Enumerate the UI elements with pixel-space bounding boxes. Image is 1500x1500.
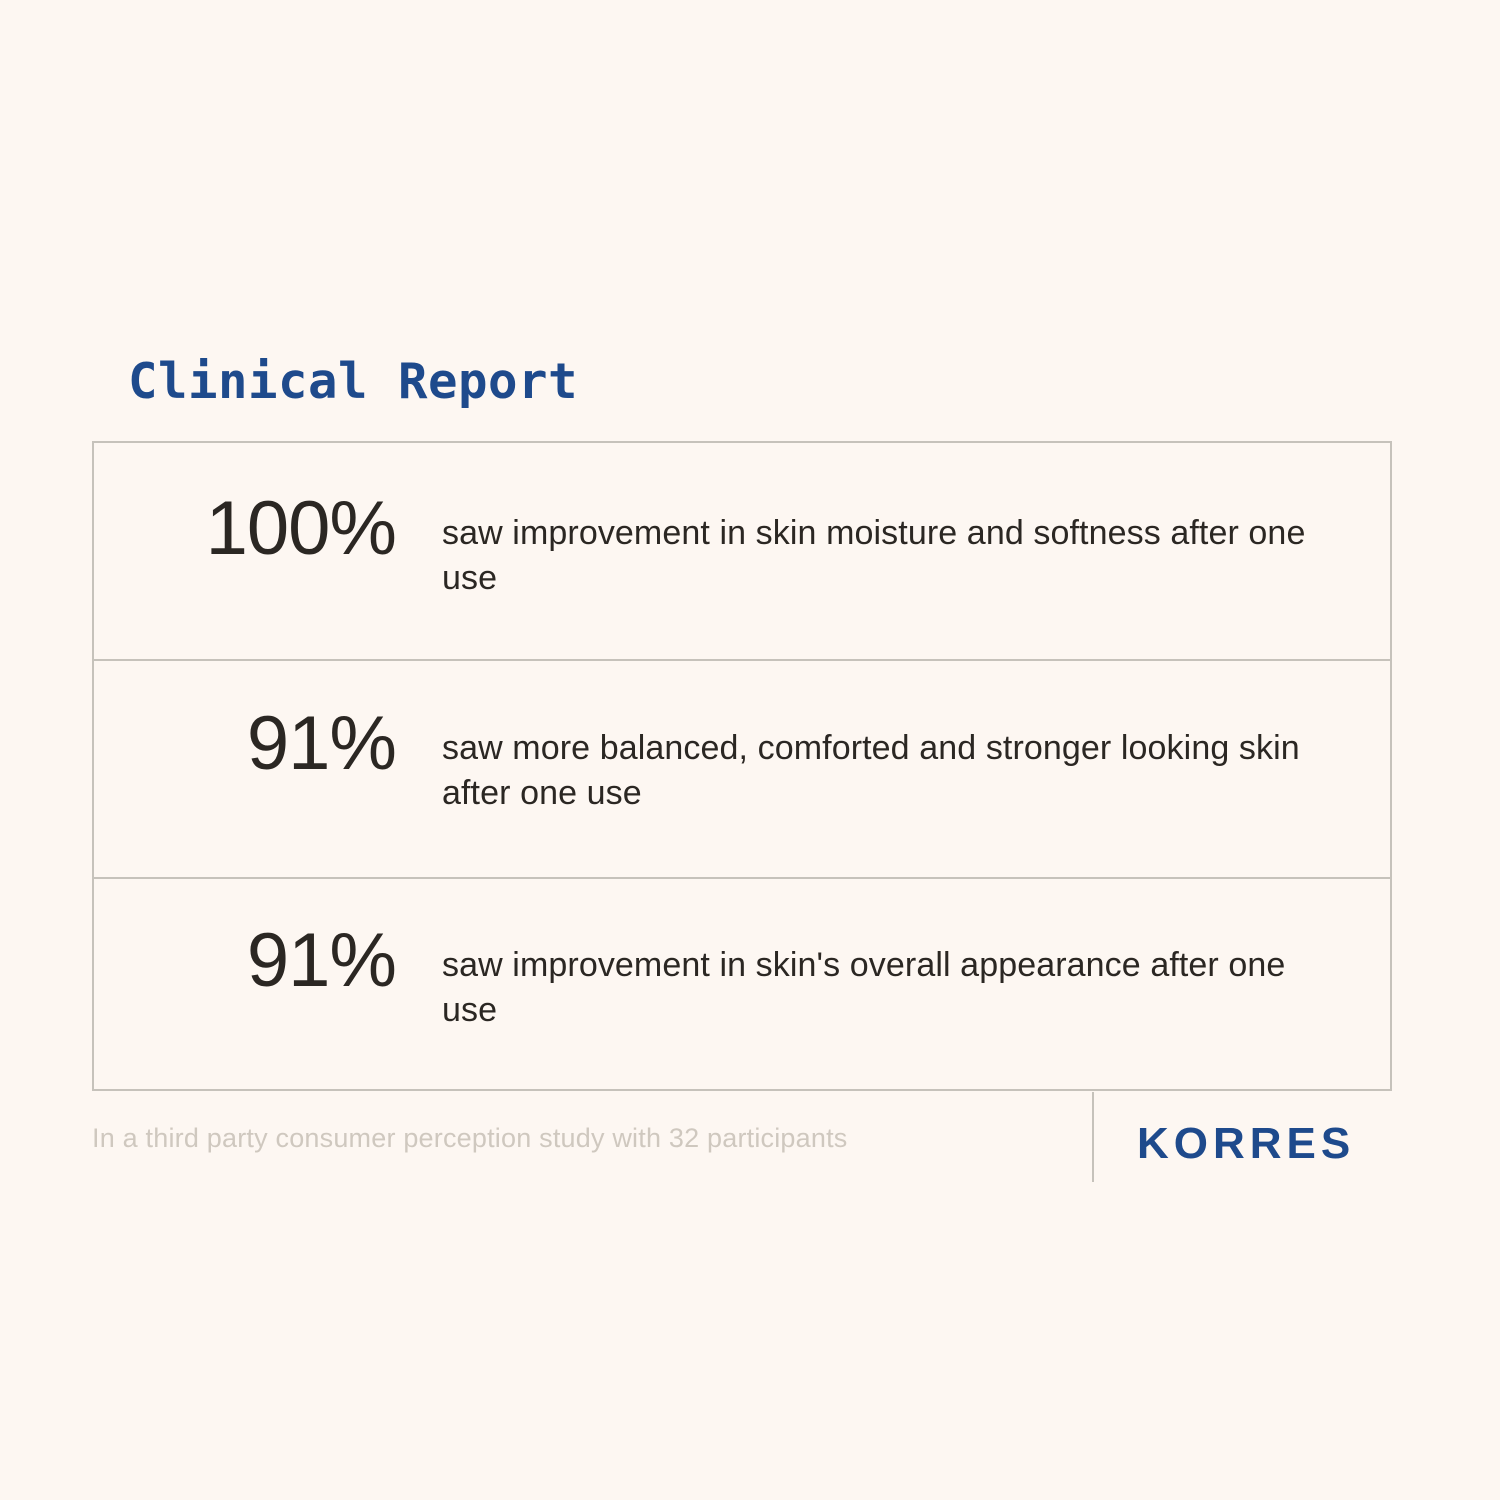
stat-percentage: 100% [94, 489, 396, 569]
stat-description: saw improvement in skin's overall appear… [442, 943, 1342, 1033]
table-row: 91% saw more balanced, comforted and str… [94, 659, 1390, 877]
brand-logo: KORRES [1137, 1118, 1355, 1170]
study-footnote: In a third party consumer perception stu… [92, 1120, 1042, 1156]
clinical-report-card: Clinical Report 100% saw improvement in … [0, 0, 1500, 1500]
table-row: 91% saw improvement in skin's overall ap… [94, 877, 1390, 1089]
stat-percentage: 91% [94, 704, 396, 784]
clinical-results-table: 100% saw improvement in skin moisture an… [92, 441, 1392, 1091]
stat-description: saw improvement in skin moisture and sof… [442, 511, 1342, 601]
table-row: 100% saw improvement in skin moisture an… [94, 443, 1390, 659]
page-title: Clinical Report [128, 354, 578, 410]
stat-percentage: 91% [94, 921, 396, 1001]
stat-description: saw more balanced, comforted and stronge… [442, 726, 1342, 816]
footer-divider [1092, 1092, 1094, 1182]
